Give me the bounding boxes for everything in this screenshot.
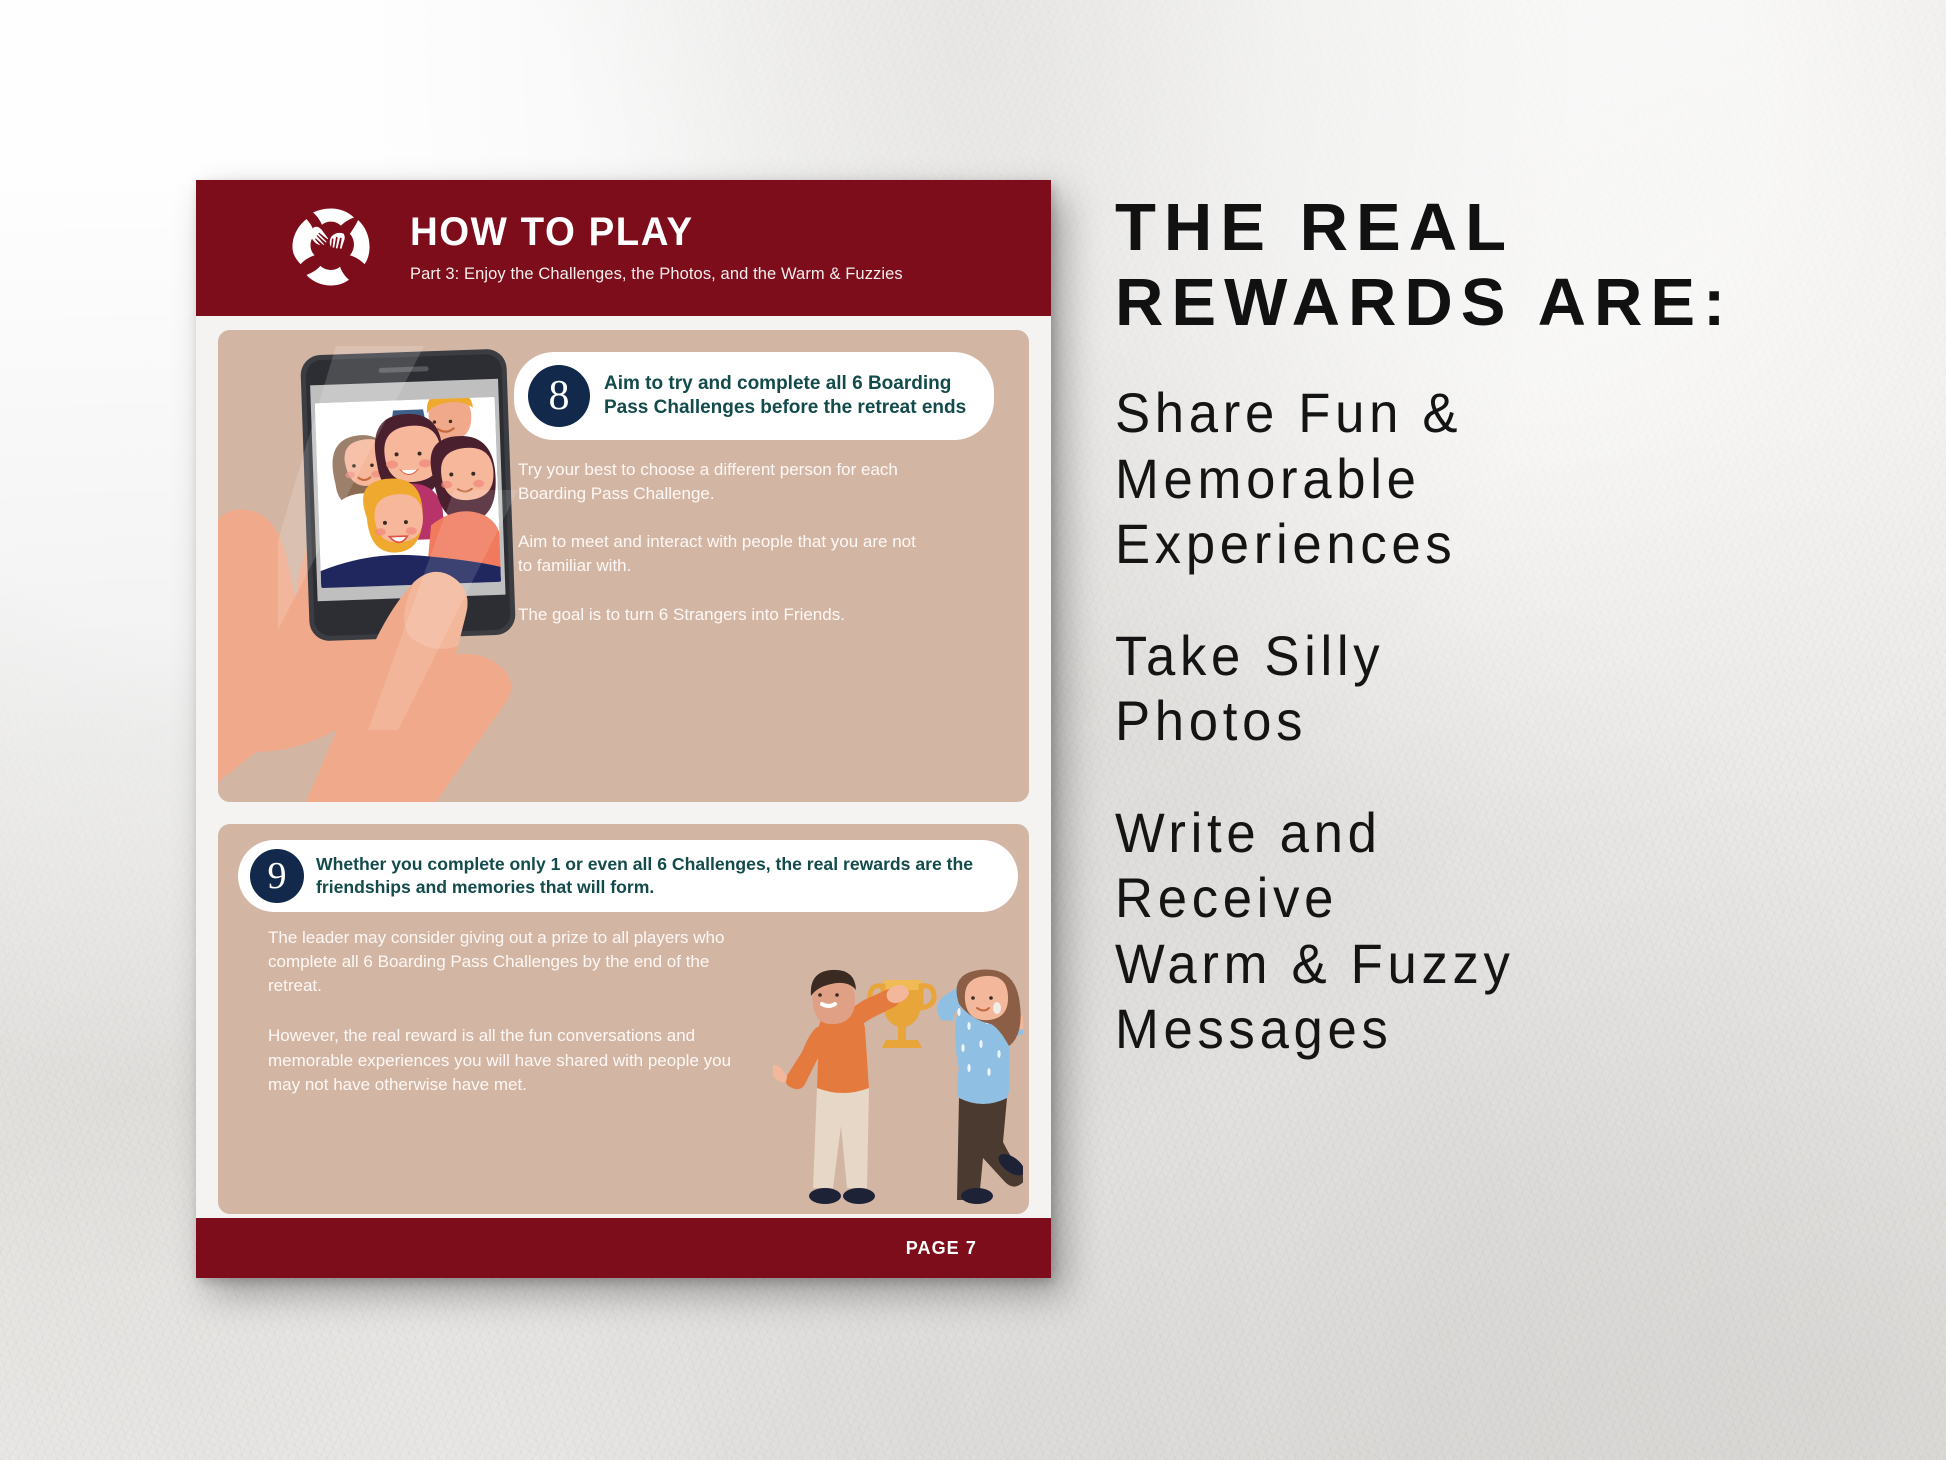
reward-item-3-line-1: Write and (1115, 800, 1858, 866)
step-8-paragraphs: Try your best to choose a different pers… (518, 458, 918, 651)
reward-item-3-line-4: Messages (1115, 996, 1858, 1062)
page-title: HOW TO PLAY (410, 212, 883, 252)
reward-item-1: Share Fun & Memorable Experiences (1115, 380, 1905, 577)
step-9-paragraph-1: The leader may consider giving out a pri… (268, 926, 738, 998)
flyer-page: HOW TO PLAY Part 3: Enjoy the Challenges… (196, 180, 1051, 1278)
two-people-celebrating-with-trophy-illustration (773, 964, 1023, 1214)
reward-item-3-line-3: Warm & Fuzzy (1115, 931, 1858, 997)
reward-item-3: Write and Receive Warm & Fuzzy Messages (1115, 800, 1905, 1062)
step-8-callout: 8 Aim to try and complete all 6 Boarding… (514, 352, 994, 440)
four-hands-circle-logo-icon (290, 206, 372, 288)
right-heading-line-1: THE REAL (1115, 190, 1905, 265)
page-subtitle: Part 3: Enjoy the Challenges, the Photos… (410, 265, 903, 284)
reward-item-1-line-3: Experiences (1115, 511, 1858, 577)
step-9-callout: 9 Whether you complete only 1 or even al… (238, 840, 1018, 912)
reward-item-2-line-2: Photos (1115, 688, 1858, 754)
step-9-card: 9 Whether you complete only 1 or even al… (218, 824, 1029, 1214)
step-8-paragraph-1: Try your best to choose a different pers… (518, 458, 918, 506)
page-footer: PAGE 7 (196, 1218, 1051, 1278)
reward-item-1-line-2: Memorable (1115, 446, 1858, 512)
step-8-callout-text: Aim to try and complete all 6 Boarding P… (604, 372, 976, 421)
page-body: 8 Aim to try and complete all 6 Boarding… (196, 316, 1051, 1218)
step-9-callout-text: Whether you complete only 1 or even all … (316, 853, 1000, 900)
reward-item-1-line-1: Share Fun & (1115, 380, 1858, 446)
reward-item-2-line-1: Take Silly (1115, 623, 1858, 689)
page-number-label: PAGE 7 (906, 1238, 977, 1259)
step-8-number-badge: 8 (528, 365, 590, 427)
step-9-number-badge: 9 (250, 849, 304, 903)
step-9-paragraph-2: However, the real reward is all the fun … (268, 1024, 738, 1096)
right-heading-line-2: REWARDS ARE: (1115, 265, 1905, 340)
reward-item-2: Take Silly Photos (1115, 623, 1905, 754)
step-8-paragraph-3: The goal is to turn 6 Strangers into Fri… (518, 603, 918, 627)
right-heading: THE REAL REWARDS ARE: (1115, 190, 1905, 340)
step-8-paragraph-2: Aim to meet and interact with people tha… (518, 530, 918, 578)
right-panel: THE REAL REWARDS ARE: Share Fun & Memora… (1115, 190, 1905, 1108)
right-reward-list: Share Fun & Memorable Experiences Take S… (1115, 380, 1905, 1062)
step-9-paragraphs: The leader may consider giving out a pri… (268, 926, 738, 1123)
step-8-card: 8 Aim to try and complete all 6 Boarding… (218, 330, 1029, 802)
page-header: HOW TO PLAY Part 3: Enjoy the Challenges… (196, 180, 1051, 316)
reward-item-3-line-2: Receive (1115, 865, 1858, 931)
